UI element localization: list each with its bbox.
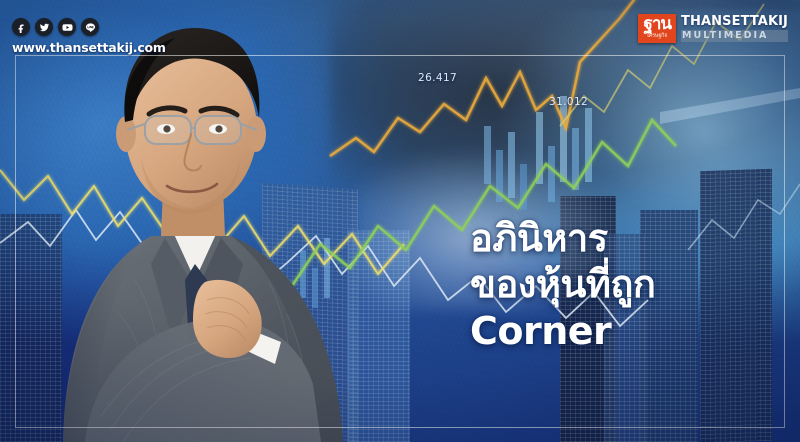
headline-line-3: Corner [470,308,655,354]
vignette [0,0,800,442]
logo-wordmark: THANSETTAKIJ MULTIMEDIA [681,15,788,42]
logo-mark: ฐาน เศรษฐกิจ [638,14,676,43]
logo-thai-text: ฐาน [643,16,671,33]
headline-line-1: อภินิหาร [470,215,655,261]
logo-brand-name: THANSETTAKIJ [681,15,788,29]
social-links[interactable] [12,18,99,36]
site-url[interactable]: www.thansettakij.com [12,40,166,55]
facebook-icon[interactable] [12,18,30,36]
headline: อภินิหาร ของหุ้นที่ถูก Corner [470,215,655,354]
headline-line-2: ของหุ้นที่ถูก [470,261,655,307]
logo-brand-sub: MULTIMEDIA [681,30,788,42]
youtube-icon[interactable] [58,18,76,36]
logo-thai-subtext: เศรษฐกิจ [647,34,667,40]
twitter-icon[interactable] [35,18,53,36]
article-cover-image: 26.417 31.012 [0,0,800,442]
brand-logo[interactable]: ฐาน เศรษฐกิจ THANSETTAKIJ MULTIMEDIA [638,14,788,43]
line-icon[interactable] [81,18,99,36]
